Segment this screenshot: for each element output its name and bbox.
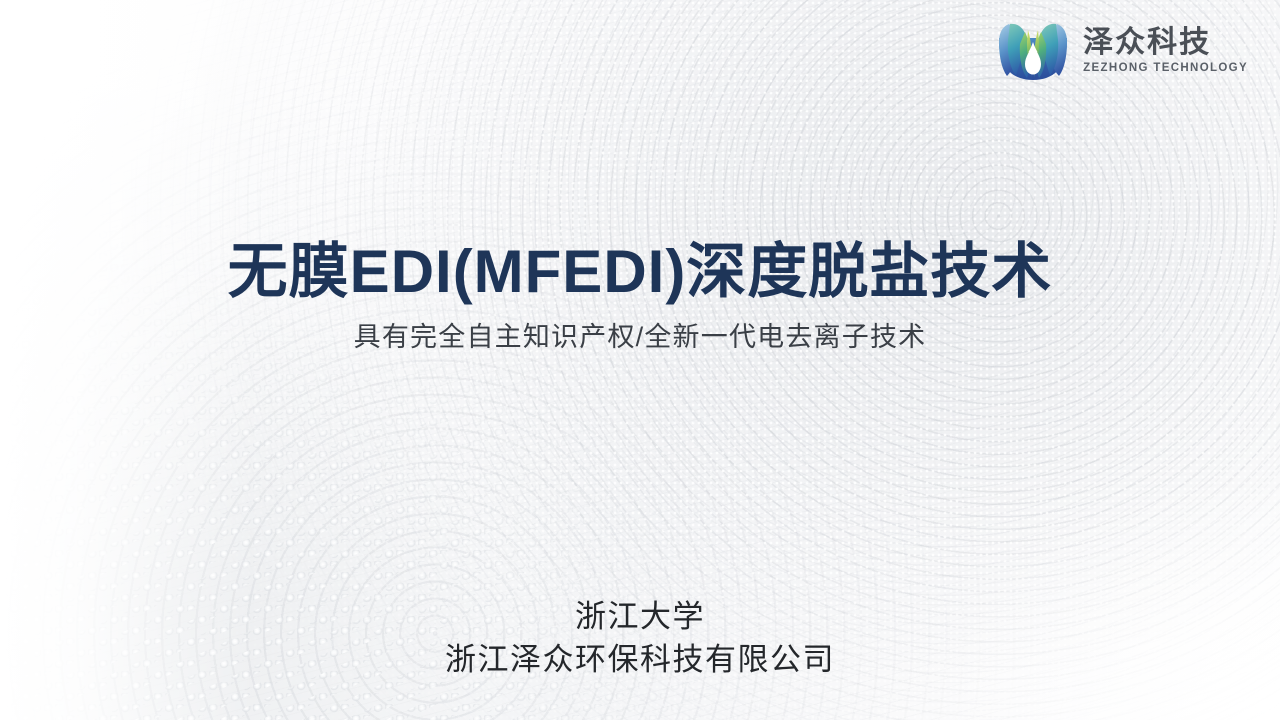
page-title: 无膜EDI(MFEDI)深度脱盐技术 [0,240,1280,305]
affiliation-line: 浙江泽众环保科技有限公司 [0,639,1280,682]
logo-wordmark: 泽众科技 ZEZHONG TECHNOLOGY [1083,28,1248,75]
page-subtitle: 具有完全自主知识产权/全新一代电去离子技术 [0,321,1280,353]
title-block: 无膜EDI(MFEDI)深度脱盐技术 具有完全自主知识产权/全新一代电去离子技术 [0,240,1280,353]
affiliation-line: 浙江大学 [0,596,1280,639]
logo-name-en: ZEZHONG TECHNOLOGY [1083,63,1248,75]
lotus-waterdrop-icon [995,20,1071,82]
affiliation-block: 浙江大学 浙江泽众环保科技有限公司 [0,596,1280,682]
title-slide: 泽众科技 ZEZHONG TECHNOLOGY 无膜EDI(MFEDI)深度脱盐… [0,0,1280,720]
company-logo: 泽众科技 ZEZHONG TECHNOLOGY [995,20,1248,82]
logo-name-cn: 泽众科技 [1083,28,1248,58]
